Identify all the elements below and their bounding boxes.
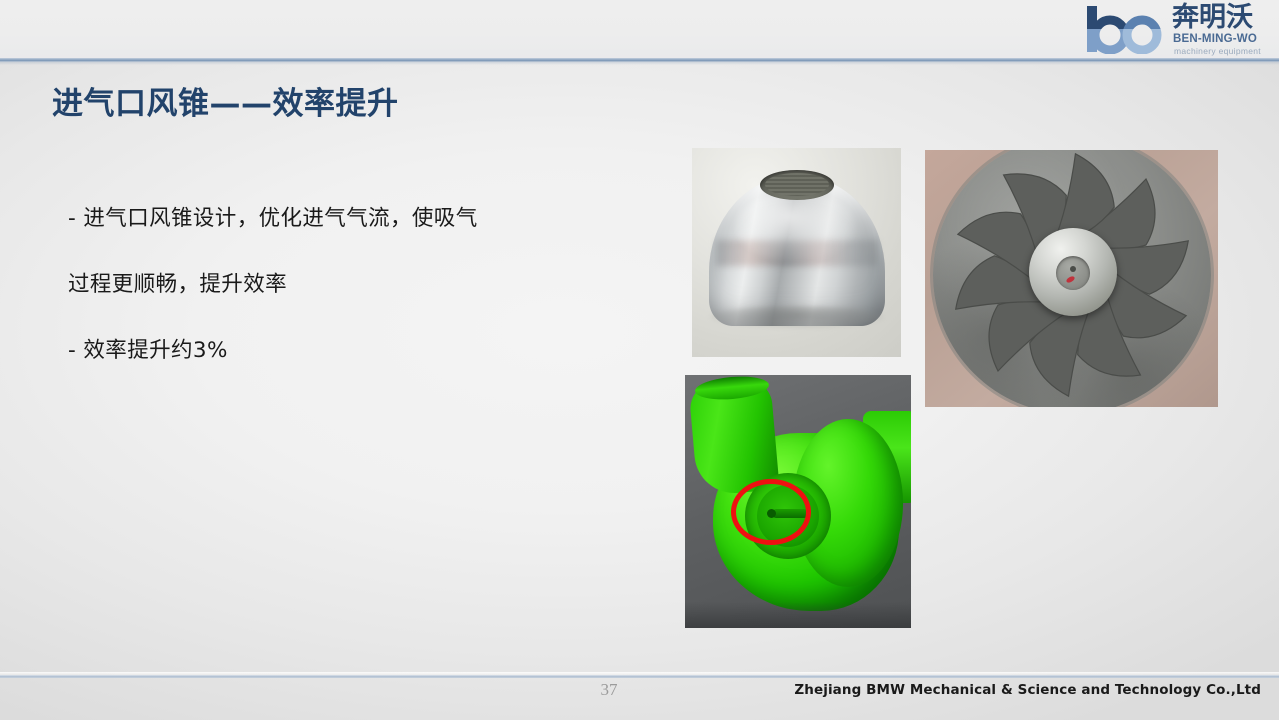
inlet-cone-photo	[692, 148, 901, 357]
logo-tagline: machinery equipment	[1174, 46, 1261, 56]
cone-base-shadow	[710, 306, 884, 328]
bullet-line-2: 过程更顺畅，提升效率	[68, 252, 628, 318]
logo-name-cn: 奔明沃	[1172, 3, 1253, 33]
cone-specular-highlight	[736, 192, 856, 262]
bo-monogram-icon	[1084, 4, 1176, 54]
page-title: 进气口风锥——效率提升	[52, 78, 399, 123]
footer-divider-rule	[0, 675, 1279, 678]
bullet-line-1: - 进气口风锥设计，优化进气气流，使吸气	[68, 186, 628, 252]
cad-ground-shadow	[685, 602, 911, 628]
bullet-line-3: - 效率提升约3%	[68, 318, 628, 384]
logo-wordmark: 奔明沃 BEN-MING-WO machinery equipment	[1172, 3, 1276, 57]
impeller-hub-ring	[1056, 256, 1090, 290]
impeller-hub-bolt	[1070, 266, 1076, 272]
cone-bore-threads	[765, 173, 829, 196]
blower-cad-render	[685, 375, 911, 628]
cad-red-highlight-annotation	[731, 479, 811, 545]
footer-company-name: Zhejiang BMW Mechanical & Science and Te…	[794, 682, 1261, 698]
logo-name-en: BEN-MING-WO	[1173, 33, 1257, 45]
header-divider-shadow	[0, 62, 1279, 65]
impeller-photo	[925, 150, 1218, 407]
presentation-slide: 奔明沃 BEN-MING-WO machinery equipment 进气口风…	[0, 0, 1279, 720]
body-content: - 进气口风锥设计，优化进气气流，使吸气 过程更顺畅，提升效率 - 效率提升约3…	[68, 186, 628, 384]
company-logo: 奔明沃 BEN-MING-WO machinery equipment	[1084, 2, 1276, 58]
page-number: 37	[574, 680, 644, 700]
